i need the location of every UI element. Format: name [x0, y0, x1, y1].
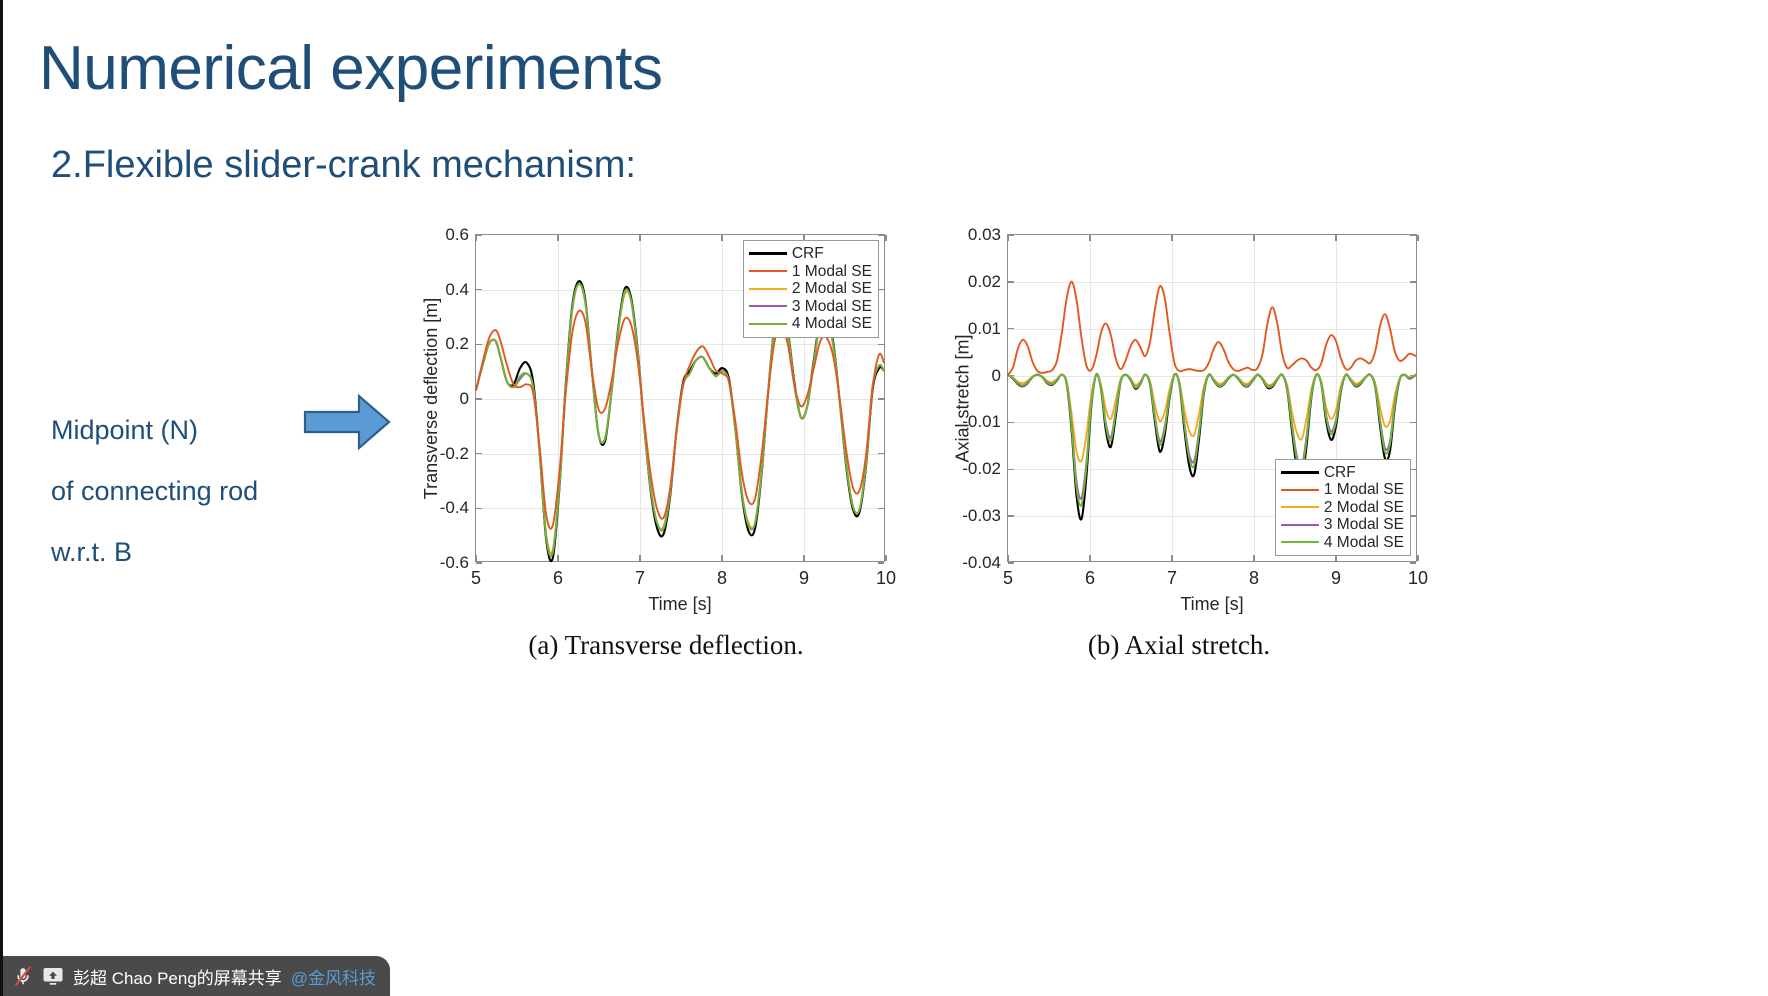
y-tick-label: 0.02 [968, 272, 1001, 292]
share-status-accent-text: @金风科技 [291, 964, 376, 989]
chart-panel-axial-stretch: 0.030.020.010-0.01-0.02-0.03-0.045678910… [929, 222, 1429, 674]
x-tick-label: 8 [1249, 568, 1259, 589]
annotation-text-block: Midpoint (N) of connecting rod w.r.t. B [51, 400, 258, 583]
y-tick-label: 0.4 [445, 280, 469, 300]
figure-container: 0.60.40.20-0.2-0.4-0.65678910CRF1 Modal … [411, 222, 1429, 674]
x-tick-label: 10 [876, 568, 896, 589]
legend-item[interactable]: 3 Modal SE [749, 298, 872, 316]
figure-caption-b: (b) Axial stretch. [929, 630, 1429, 661]
legend-color-swatch [1281, 541, 1319, 543]
x-tick-label: 5 [471, 568, 481, 589]
legend-label: CRF [1324, 465, 1356, 481]
chart-panel-transverse-deflection: 0.60.40.20-0.2-0.4-0.65678910CRF1 Modal … [411, 222, 921, 674]
y-tick-label: -0.03 [962, 506, 1001, 526]
y-tick-label: -0.2 [440, 444, 469, 464]
legend-item[interactable]: 3 Modal SE [1281, 516, 1404, 534]
legend-color-swatch [1281, 471, 1319, 474]
x-tick-label: 7 [1167, 568, 1177, 589]
y-axis-label-b: Axial stretch [m] [953, 334, 974, 462]
y-tick-mark [878, 562, 884, 563]
legend-color-swatch [749, 270, 787, 272]
annotation-line-2: of connecting rod [51, 461, 258, 522]
legend-color-swatch [749, 305, 787, 307]
y-tick-label: 0 [460, 389, 469, 409]
y-tick-mark [1410, 562, 1416, 563]
page-title: Numerical experiments [39, 36, 663, 101]
legend-label: 2 Modal SE [1324, 500, 1404, 516]
legend-item[interactable]: 2 Modal SE [1281, 499, 1404, 517]
x-tick-label: 5 [1003, 568, 1013, 589]
legend-item[interactable]: 1 Modal SE [1281, 481, 1404, 499]
share-status-text: 彭超 Chao Peng的屏幕共享 [73, 964, 282, 989]
y-axis-label-a: Transverse deflection [m] [421, 297, 442, 498]
y-tick-label: 0 [992, 366, 1001, 386]
series-line-1-modal-se [476, 311, 884, 529]
right-arrow-icon [303, 392, 391, 452]
legend-item[interactable]: 1 Modal SE [749, 263, 872, 281]
legend-label: 1 Modal SE [1324, 482, 1404, 498]
plot-area-b: 0.030.020.010-0.01-0.02-0.03-0.045678910… [1007, 234, 1417, 562]
legend-color-swatch [749, 288, 787, 290]
legend-label: 1 Modal SE [792, 264, 872, 280]
y-tick-label: -0.6 [440, 553, 469, 573]
x-tick-label: 8 [717, 568, 727, 589]
legend-item[interactable]: 4 Modal SE [1281, 534, 1404, 552]
legend-color-swatch [749, 252, 787, 255]
legend-item[interactable]: 4 Modal SE [749, 315, 872, 333]
y-tick-label: 0.2 [445, 334, 469, 354]
legend-color-swatch [1281, 524, 1319, 526]
legend-label: 4 Modal SE [792, 316, 872, 332]
section-subtitle: 2.Flexible slider-crank mechanism: [51, 145, 636, 187]
series-line-1-modal-se [1008, 282, 1416, 375]
x-tick-label: 6 [553, 568, 563, 589]
x-tick-label: 6 [1085, 568, 1095, 589]
chart-legend[interactable]: CRF1 Modal SE2 Modal SE3 Modal SE4 Modal… [1275, 459, 1411, 557]
legend-label: 4 Modal SE [1324, 535, 1404, 551]
legend-label: 2 Modal SE [792, 281, 872, 297]
legend-color-swatch [1281, 489, 1319, 491]
x-tick-label: 9 [799, 568, 809, 589]
x-axis-label-b: Time [s] [1007, 594, 1417, 615]
legend-item[interactable]: 2 Modal SE [749, 280, 872, 298]
legend-color-swatch [1281, 506, 1319, 508]
plot-area-a: 0.60.40.20-0.2-0.4-0.65678910CRF1 Modal … [475, 234, 885, 562]
slide-canvas: Numerical experiments 2.Flexible slider-… [0, 0, 1768, 996]
screen-share-icon[interactable] [42, 966, 64, 986]
x-axis-label-a: Time [s] [475, 594, 885, 615]
x-tick-mark [1417, 235, 1418, 241]
x-tick-label: 10 [1408, 568, 1428, 589]
legend-color-swatch [749, 323, 787, 325]
chart-legend[interactable]: CRF1 Modal SE2 Modal SE3 Modal SE4 Modal… [743, 240, 879, 338]
y-tick-label: 0.03 [968, 225, 1001, 245]
y-tick-label: -0.4 [440, 498, 469, 518]
screen-share-status-bar: 彭超 Chao Peng的屏幕共享 @金风科技 [3, 956, 390, 996]
x-tick-mark [1417, 555, 1418, 561]
x-tick-mark [885, 235, 886, 241]
legend-label: 3 Modal SE [1324, 517, 1404, 533]
y-tick-mark [1008, 562, 1014, 563]
series-line-2-modal-se [1008, 374, 1416, 461]
y-tick-label: 0.6 [445, 225, 469, 245]
legend-item[interactable]: CRF [1281, 464, 1404, 482]
annotation-line-1: Midpoint (N) [51, 400, 258, 461]
annotation-line-3: w.r.t. B [51, 522, 258, 583]
y-tick-mark [476, 562, 482, 563]
x-tick-label: 7 [635, 568, 645, 589]
x-tick-mark [885, 555, 886, 561]
x-tick-label: 9 [1331, 568, 1341, 589]
legend-label: CRF [792, 246, 824, 262]
microphone-muted-icon[interactable] [13, 965, 33, 987]
legend-label: 3 Modal SE [792, 299, 872, 315]
y-tick-label: -0.04 [962, 553, 1001, 573]
figure-caption-a: (a) Transverse deflection. [411, 630, 921, 661]
legend-item[interactable]: CRF [749, 245, 872, 263]
